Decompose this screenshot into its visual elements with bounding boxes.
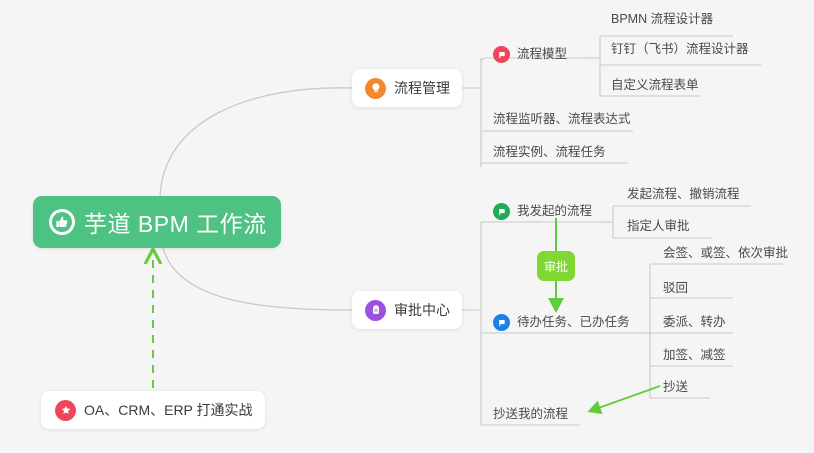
leaf-instance-task[interactable]: 流程实例、流程任务 [493,146,606,159]
star-icon [55,400,76,421]
leaf-todo-done-tasks[interactable]: 待办任务、已办任务 [493,314,630,331]
leaf-my-initiated[interactable]: 我发起的流程 [493,203,592,220]
mindmap-canvas: 芋道 BPM 工作流 流程管理 审批中心 [0,0,814,453]
leaf-label: 流程模型 [517,48,567,61]
leaf-bpmn-designer[interactable]: BPMN 流程设计器 [611,13,713,26]
leaf-label: 会签、或签、依次审批 [663,246,788,260]
leaf-label: 自定义流程表单 [611,78,699,92]
flag-icon [493,314,510,331]
leaf-cc[interactable]: 抄送 [663,381,688,394]
leaf-label: 指定人审批 [627,219,690,233]
leaf-label: BPMN 流程设计器 [611,12,713,26]
leaf-cc-to-me[interactable]: 抄送我的流程 [493,408,568,421]
leaf-delegate-transfer[interactable]: 委派、转办 [663,316,726,329]
leaf-dingtalk-designer[interactable]: 钉钉（飞书）流程设计器 [611,43,749,56]
leaf-countersign[interactable]: 会签、或签、依次审批 [663,247,788,260]
leaf-label: 我发起的流程 [517,205,592,218]
flag-icon [493,46,510,63]
leaf-label: 待办任务、已办任务 [517,316,630,329]
leaf-proc-model[interactable]: 流程模型 [493,46,567,63]
leaf-label: 抄送 [663,380,688,394]
branch-label-approve-center: 审批中心 [394,300,450,320]
clipboard-icon [365,300,386,321]
leaf-assignee-approve[interactable]: 指定人审批 [627,220,690,233]
root-label: 芋道 BPM 工作流 [84,205,267,239]
edge-root-to-proc-mgmt [160,88,352,197]
leaf-listener-expression[interactable]: 流程监听器、流程表达式 [493,113,631,126]
approve-flow-pill-label: 审批 [544,258,568,275]
leaf-label: 钉钉（飞书）流程设计器 [611,42,749,56]
root-node[interactable]: 芋道 BPM 工作流 [33,196,281,248]
leaf-label: 委派、转办 [663,315,726,329]
edge-root-to-approve-center [163,248,352,310]
branch-node-approve-center[interactable]: 审批中心 [352,291,462,329]
lightbulb-icon [365,78,386,99]
leaf-label: 流程实例、流程任务 [493,145,606,159]
callout-card[interactable]: OA、CRM、ERP 打通实战 [41,391,265,429]
flag-icon [493,203,510,220]
branch-label-proc-mgmt: 流程管理 [394,78,450,98]
branch-node-proc-mgmt[interactable]: 流程管理 [352,69,462,107]
leaf-reject[interactable]: 驳回 [663,282,688,295]
leaf-custom-form[interactable]: 自定义流程表单 [611,79,699,92]
approve-flow-pill: 审批 [537,251,575,281]
leaf-label: 加签、减签 [663,348,726,362]
callout-card-label: OA、CRM、ERP 打通实战 [84,400,253,420]
thumbs-up-icon [49,209,75,235]
arrow-cc-link [590,386,660,411]
leaf-start-cancel-process[interactable]: 发起流程、撤销流程 [627,188,740,201]
leaf-label: 抄送我的流程 [493,407,568,421]
leaf-label: 发起流程、撤销流程 [627,187,740,201]
underline-proc-child-3 [481,163,628,167]
leaf-label: 流程监听器、流程表达式 [493,112,631,126]
leaf-add-remove-sign[interactable]: 加签、减签 [663,349,726,362]
leaf-label: 驳回 [663,281,688,295]
